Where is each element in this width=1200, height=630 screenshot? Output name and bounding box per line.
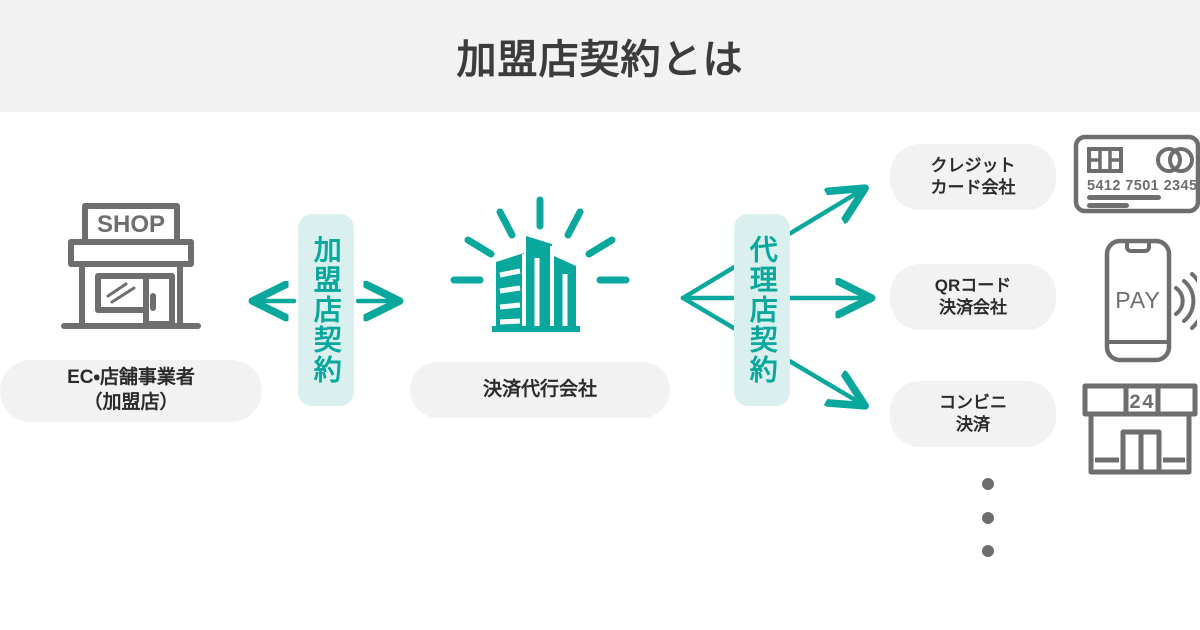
smartphone-pay-text: PAY [1115, 287, 1161, 313]
merchant-label-pill: EC・店舗事業者 （加盟店） [0, 360, 262, 422]
provider-pill-credit-card: クレジット カード会社 [890, 144, 1056, 210]
agency-contract-text: 代理店契約 [747, 235, 776, 385]
smartphone-pay-icon: PAY [1097, 238, 1197, 363]
office-buildings-icon [448, 196, 632, 338]
vertical-ellipsis [982, 478, 994, 557]
convenience-store-sign-text: 24 [1129, 392, 1155, 415]
shop-sign-text: SHOP [97, 211, 165, 238]
merchant-label-text: EC・店舗事業者 （加盟店） [67, 366, 195, 415]
merchant-contract-label: 加盟店契約 [298, 214, 354, 406]
credit-card-number: 5412 7501 2345 [1087, 178, 1197, 194]
credit-card-icon: 5412 7501 2345 [1073, 134, 1200, 214]
provider-label-qr-payment: QRコード 決済会社 [935, 275, 1012, 319]
provider-label-credit-card: クレジット カード会社 [931, 155, 1016, 199]
provider-pill-convenience-store: コンビニ 決済 [890, 381, 1056, 447]
provider-pill-qr-payment: QRコード 決済会社 [890, 264, 1056, 330]
convenience-store-icon: 24 [1081, 382, 1199, 478]
page-title: 加盟店契約とは [0, 0, 1200, 112]
psp-label-text: 決済代行会社 [483, 378, 597, 403]
psp-label-pill: 決済代行会社 [410, 362, 670, 418]
shop-storefront-icon: SHOP [58, 198, 204, 338]
infographic-canvas: 加盟店契約とは [0, 0, 1200, 630]
provider-label-convenience-store: コンビニ 決済 [939, 392, 1007, 436]
merchant-contract-text: 加盟店契約 [311, 235, 340, 385]
agency-contract-label: 代理店契約 [734, 214, 790, 406]
